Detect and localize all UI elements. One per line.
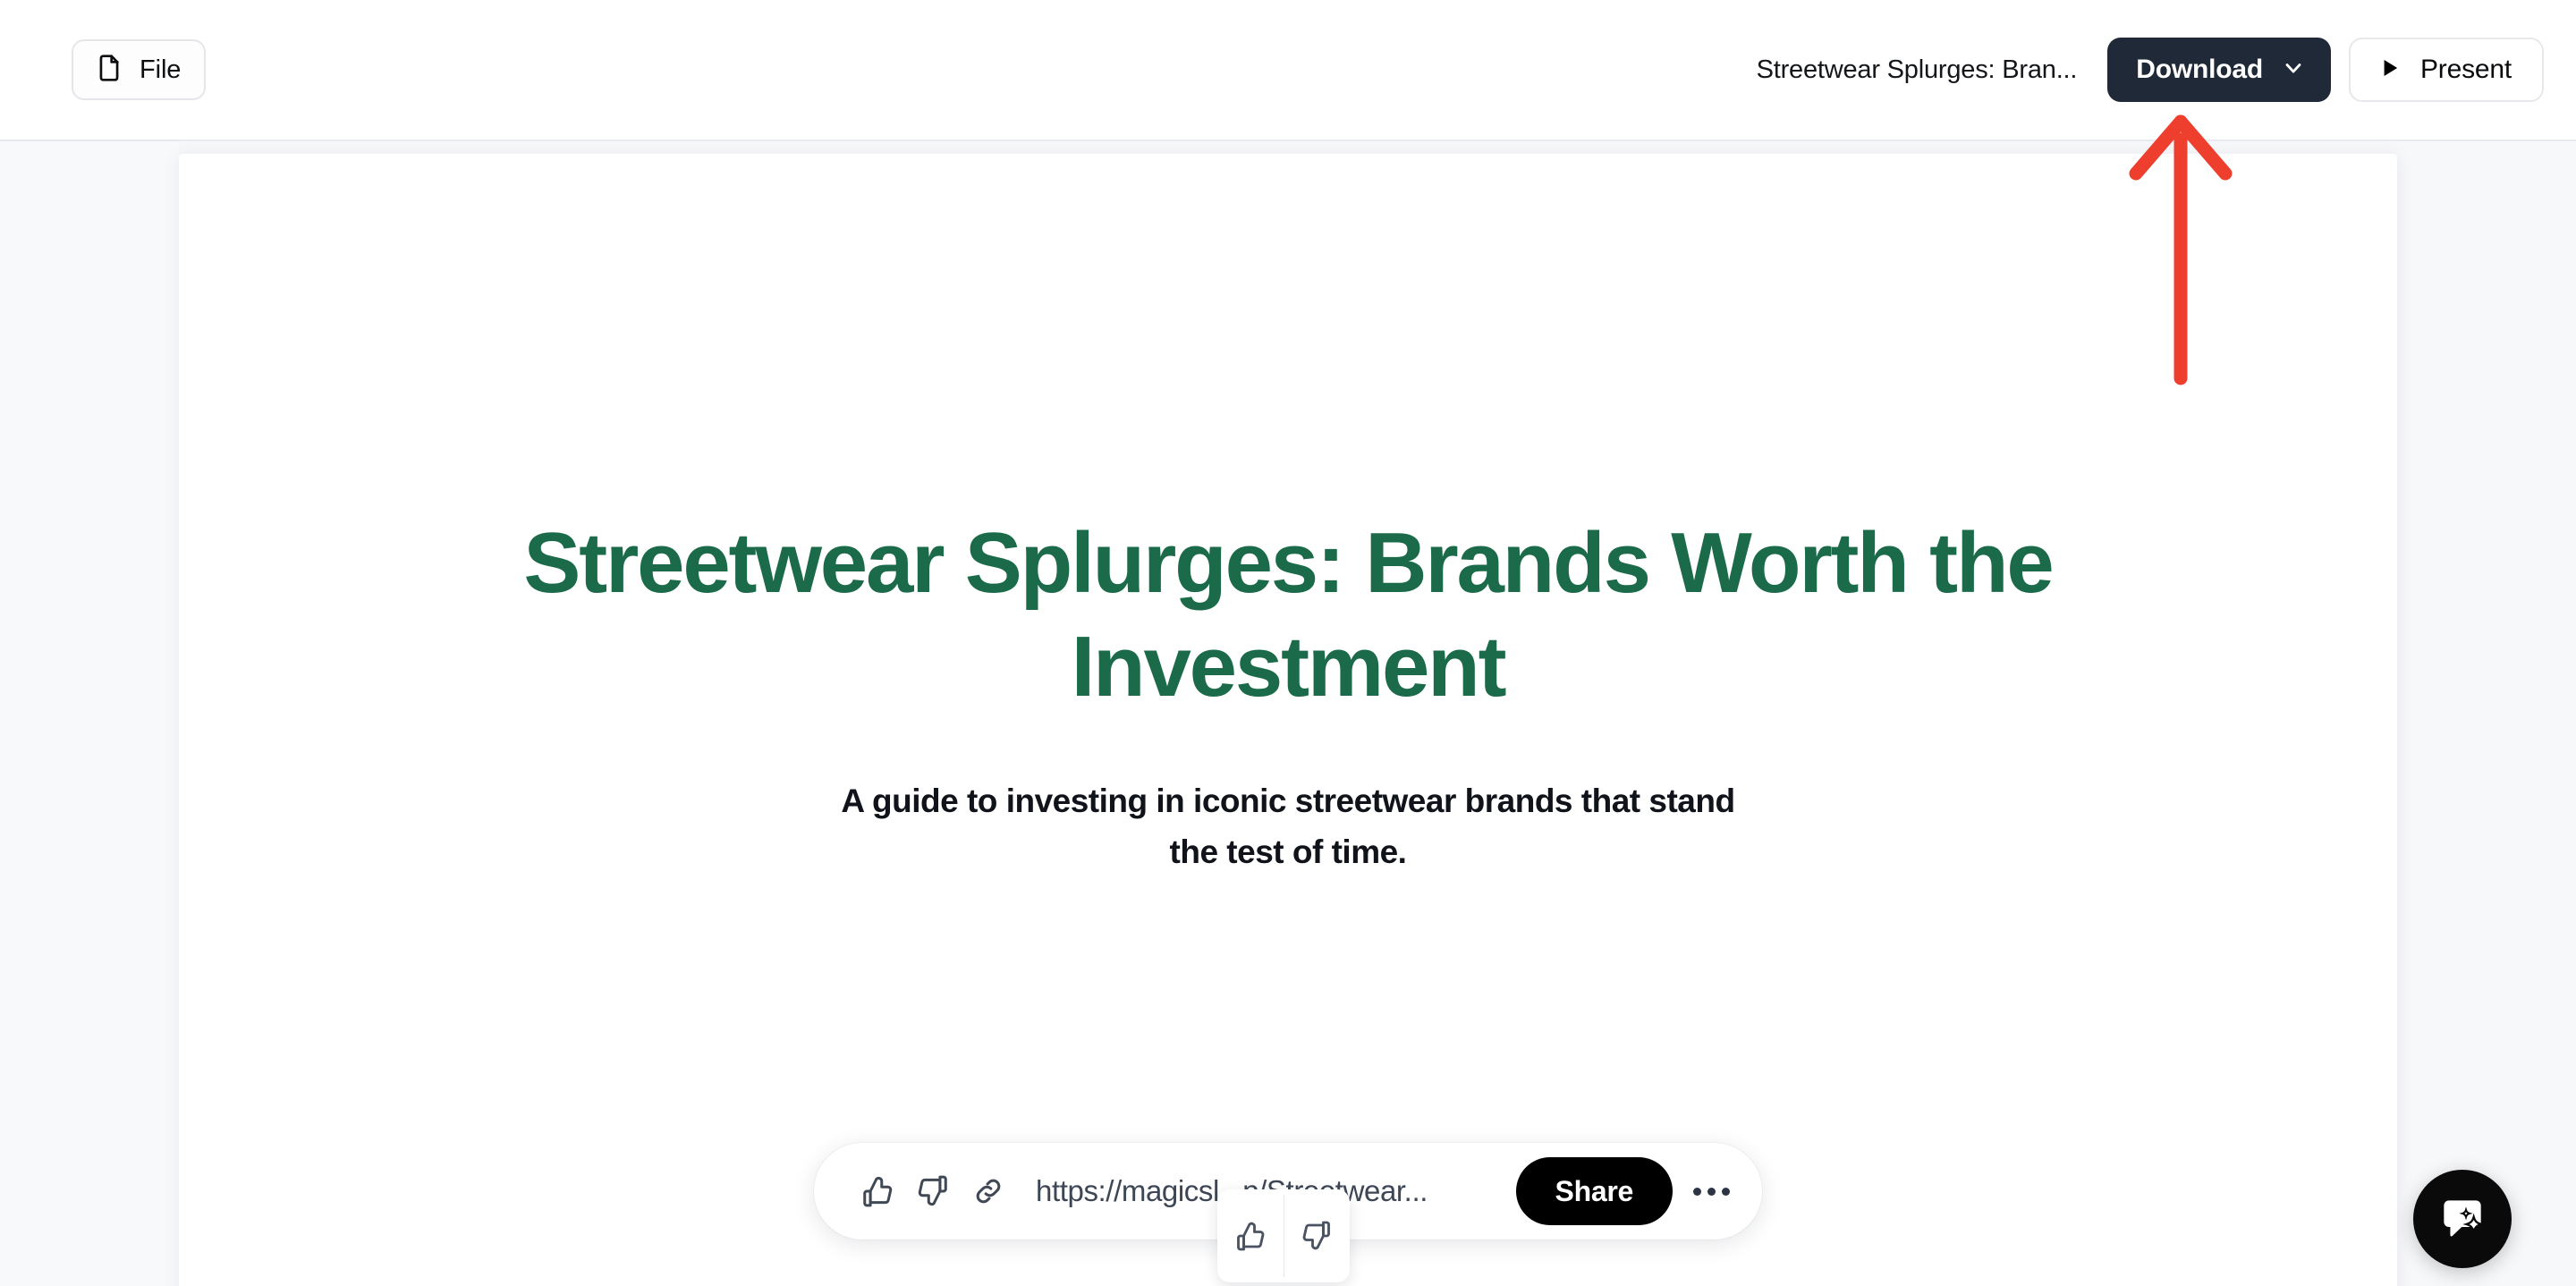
top-header-bar: File Streetwear Splurges: Bran... Downlo… <box>0 0 2576 141</box>
popup-thumbs-down-icon[interactable] <box>1284 1189 1350 1282</box>
document-title[interactable]: Streetwear Splurges: Bran... <box>1757 55 2078 85</box>
download-button[interactable]: Download <box>2107 38 2331 102</box>
slide-workspace: Streetwear Splurges: Brands Worth the In… <box>0 141 2576 1286</box>
popup-thumbs-up-icon[interactable] <box>1217 1189 1284 1282</box>
slide-title[interactable]: Streetwear Splurges: Brands Worth the In… <box>438 512 2138 719</box>
file-button[interactable]: File <box>72 39 206 100</box>
present-button-label: Present <box>2420 56 2512 83</box>
slide-content: Streetwear Splurges: Brands Worth the In… <box>179 154 2397 1286</box>
left-rail <box>0 141 179 1286</box>
header-left-group: File <box>72 0 206 140</box>
link-icon[interactable] <box>961 1163 1016 1219</box>
slide-subtitle[interactable]: A guide to investing in iconic streetwea… <box>832 776 1744 876</box>
header-right-group: Streetwear Splurges: Bran... Download Pr… <box>1757 0 2544 140</box>
slide-card[interactable]: Streetwear Splurges: Brands Worth the In… <box>179 154 2397 1286</box>
dot <box>1722 1188 1730 1196</box>
thumbs-down-icon[interactable] <box>905 1163 961 1219</box>
share-button[interactable]: Share <box>1516 1157 1673 1225</box>
download-button-label: Download <box>2136 56 2263 83</box>
app-root: File Streetwear Splurges: Bran... Downlo… <box>0 0 2576 1286</box>
popup-divider <box>1284 1195 1284 1277</box>
file-button-label: File <box>140 57 181 83</box>
present-button[interactable]: Present <box>2349 38 2544 102</box>
document-icon <box>95 54 123 87</box>
chevron-down-icon <box>2281 55 2306 85</box>
ellipsis-icon[interactable] <box>1680 1160 1742 1223</box>
dot <box>1693 1188 1701 1196</box>
thumbs-up-icon[interactable] <box>850 1163 905 1219</box>
chat-sparkle-icon[interactable] <box>2413 1170 2512 1268</box>
play-icon <box>2377 55 2402 85</box>
dot <box>1707 1188 1716 1196</box>
feedback-popup <box>1217 1189 1350 1282</box>
